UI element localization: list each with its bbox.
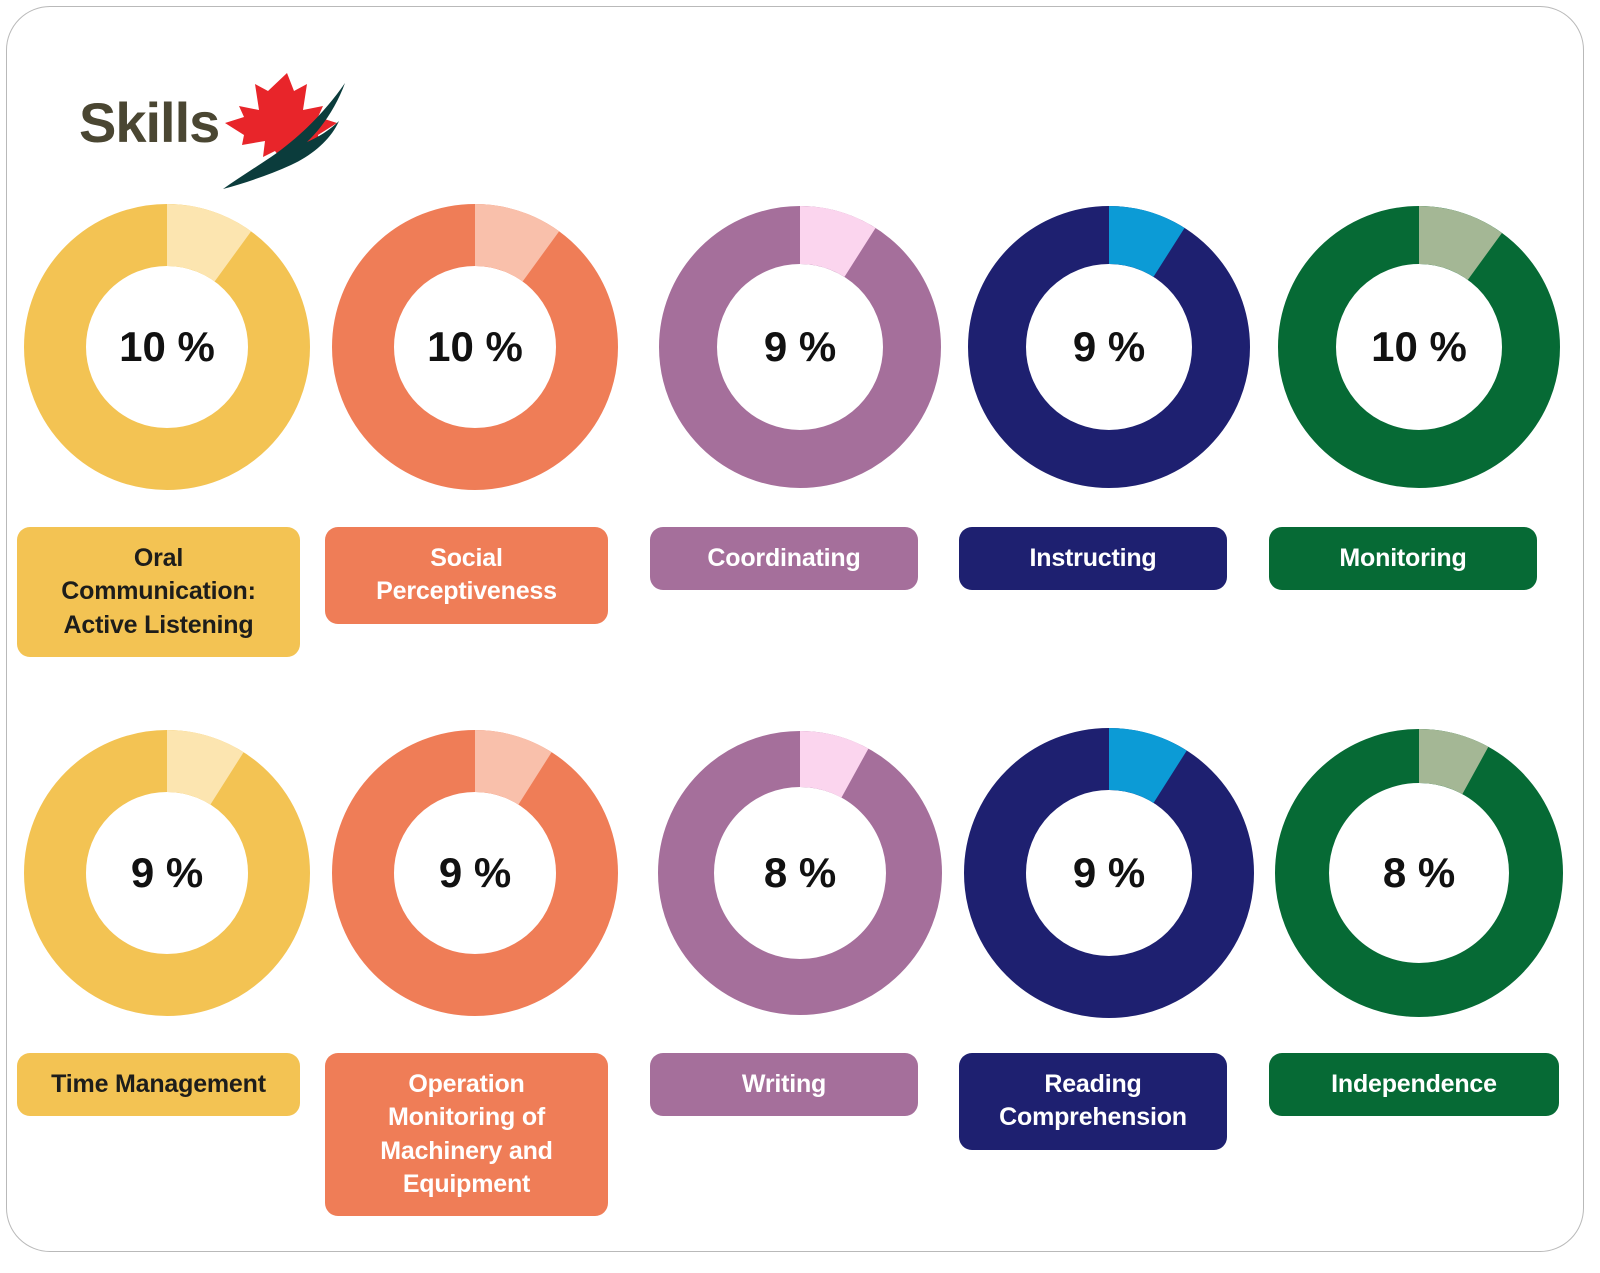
donut-label-coordinating[interactable]: Coordinating [650,527,918,590]
donut-cell-coordinating: 9 % Coordinating [650,197,950,590]
label-wrap: Oral Communication: Active Listening [17,497,317,657]
donut-chart-writing: 8 % [650,723,950,1023]
label-wrap: Monitoring [1269,497,1569,590]
donut-chart-independence: 8 % [1269,723,1569,1023]
donut-label-independence[interactable]: Independence [1269,1053,1559,1116]
donut-cell-oral-communication-active-listening: 10 % Oral Communication: Active Listenin… [17,197,317,657]
donut-chart-operation-monitoring: 9 % [325,723,625,1023]
donut-label-monitoring[interactable]: Monitoring [1269,527,1537,590]
donut-chart-monitoring: 10 % [1269,197,1569,497]
donut-chart-coordinating: 9 % [650,197,950,497]
donut-cell-monitoring: 10 % Monitoring [1269,197,1569,590]
label-wrap: Writing [650,1023,950,1116]
donut-cell-independence: 8 % Independence [1269,723,1569,1116]
infographic-card: Skills 10 % Oral Communication: Activ [6,6,1584,1252]
donut-label-reading-comprehension[interactable]: Reading Comprehension [959,1053,1227,1150]
donut-label-instructing[interactable]: Instructing [959,527,1227,590]
donut-chart-oral-communication-active-listening: 10 % [17,197,317,497]
donut-cell-time-management: 9 % Time Management [17,723,317,1116]
label-wrap: Social Perceptiveness [325,497,625,624]
label-wrap: Independence [1269,1023,1569,1116]
donut-label-oral-communication-active-listening[interactable]: Oral Communication: Active Listening [17,527,300,657]
donut-chart-reading-comprehension: 9 % [959,723,1259,1023]
donut-label-social-perceptiveness[interactable]: Social Perceptiveness [325,527,608,624]
donut-cell-instructing: 9 % Instructing [959,197,1259,590]
donut-chart-time-management: 9 % [17,723,317,1023]
label-wrap: Operation Monitoring of Machinery and Eq… [325,1023,625,1216]
label-wrap: Time Management [17,1023,317,1116]
donut-label-writing[interactable]: Writing [650,1053,918,1116]
donut-chart-social-perceptiveness: 10 % [325,197,625,497]
donut-cell-operation-monitoring: 9 % Operation Monitoring of Machinery an… [325,723,625,1216]
donut-label-operation-monitoring[interactable]: Operation Monitoring of Machinery and Eq… [325,1053,608,1216]
label-wrap: Instructing [959,497,1259,590]
donut-label-time-management[interactable]: Time Management [17,1053,300,1116]
donut-grid: 10 % Oral Communication: Active Listenin… [7,7,1583,1251]
donut-cell-social-perceptiveness: 10 % Social Perceptiveness [325,197,625,624]
donut-cell-writing: 8 % Writing [650,723,950,1116]
label-wrap: Reading Comprehension [959,1023,1259,1150]
donut-cell-reading-comprehension: 9 % Reading Comprehension [959,723,1259,1150]
label-wrap: Coordinating [650,497,950,590]
donut-chart-instructing: 9 % [959,197,1259,497]
